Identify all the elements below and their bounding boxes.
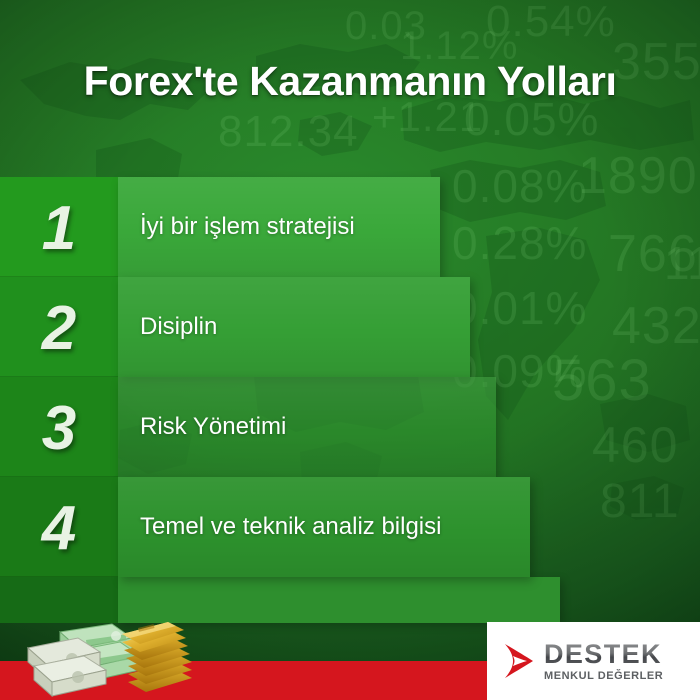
brand-name: DESTEK bbox=[544, 641, 663, 668]
list-item[interactable]: 3 Risk Yönetimi bbox=[0, 377, 700, 477]
red-arrow-icon bbox=[501, 642, 535, 680]
list-item-panel: Risk Yönetimi bbox=[118, 377, 496, 477]
list-item[interactable]: 1 İyi bir işlem stratejisi bbox=[0, 177, 700, 277]
brand-tagline: MENKUL DEĞERLER bbox=[544, 671, 663, 682]
list-item-label: Disiplin bbox=[118, 313, 217, 341]
list-item-panel: İyi bir işlem stratejisi bbox=[118, 177, 440, 277]
list-item-label: İyi bir işlem stratejisi bbox=[118, 213, 355, 241]
list-item-label: Temel ve teknik analiz bilgisi bbox=[118, 513, 441, 541]
list-item-number: 3 bbox=[42, 398, 76, 460]
list-item[interactable]: 4 Temel ve teknik analiz bilgisi bbox=[0, 477, 700, 577]
list-item-number: 2 bbox=[42, 298, 76, 360]
list-item-number-cell: 2 bbox=[0, 277, 118, 377]
list-item-panel: Disiplin bbox=[118, 277, 470, 377]
list-item-number: 4 bbox=[42, 498, 76, 560]
tips-list: 1 İyi bir işlem stratejisi 2 Disiplin 3 … bbox=[0, 177, 700, 577]
list-item[interactable]: 2 Disiplin bbox=[0, 277, 700, 377]
brand-logo-text: DESTEK MENKUL DEĞERLER bbox=[544, 641, 663, 682]
list-item-panel: Temel ve teknik analiz bilgisi bbox=[118, 477, 530, 577]
brand-logo-panel[interactable]: DESTEK MENKUL DEĞERLER bbox=[487, 622, 700, 700]
list-item-label: Risk Yönetimi bbox=[118, 413, 286, 441]
list-item-number-cell: 3 bbox=[0, 377, 118, 477]
infographic-root: 0.03812.34+1.210.05%0.54%1.12%35518900.0… bbox=[0, 0, 700, 700]
page-title: Forex'te Kazanmanın Yolları bbox=[0, 58, 700, 105]
background-number: 812.34 bbox=[218, 110, 359, 154]
list-item-number: 1 bbox=[42, 198, 76, 260]
money-and-gold-illustration bbox=[16, 612, 216, 698]
list-item-number-cell: 4 bbox=[0, 477, 118, 577]
list-item-number-cell: 1 bbox=[0, 177, 118, 277]
